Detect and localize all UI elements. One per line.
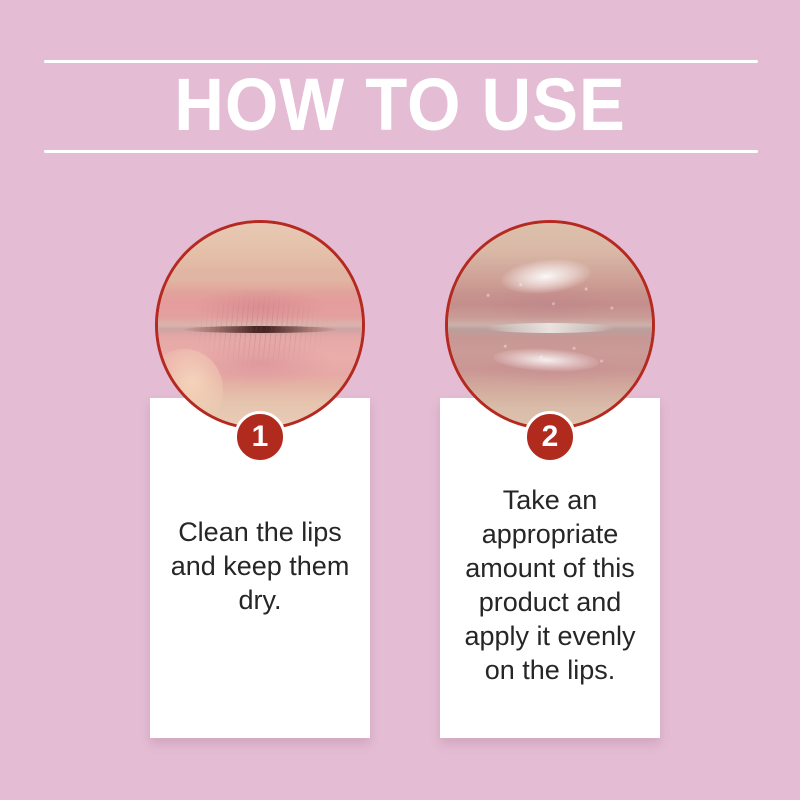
steps-container: 1 Clean the lips and keep them dry. 2 Ta… (0, 0, 800, 800)
chin-highlight (155, 349, 223, 430)
step-1-caption: Clean the lips and keep them dry. (156, 515, 364, 617)
gloss-sparkle-specks (464, 272, 635, 378)
step-1-photo (155, 220, 365, 430)
step-card-2: 2 Take an appropriate amount of this pro… (400, 220, 700, 720)
glossy-lips-image (448, 223, 652, 427)
step-2-badge: 2 (524, 411, 576, 463)
step-1-badge: 1 (234, 411, 286, 463)
step-2-caption: Take an appropriate amount of this produ… (446, 483, 654, 687)
bare-lips-image (158, 223, 362, 427)
step-2-photo (445, 220, 655, 430)
step-card-1: 1 Clean the lips and keep them dry. (110, 220, 410, 720)
